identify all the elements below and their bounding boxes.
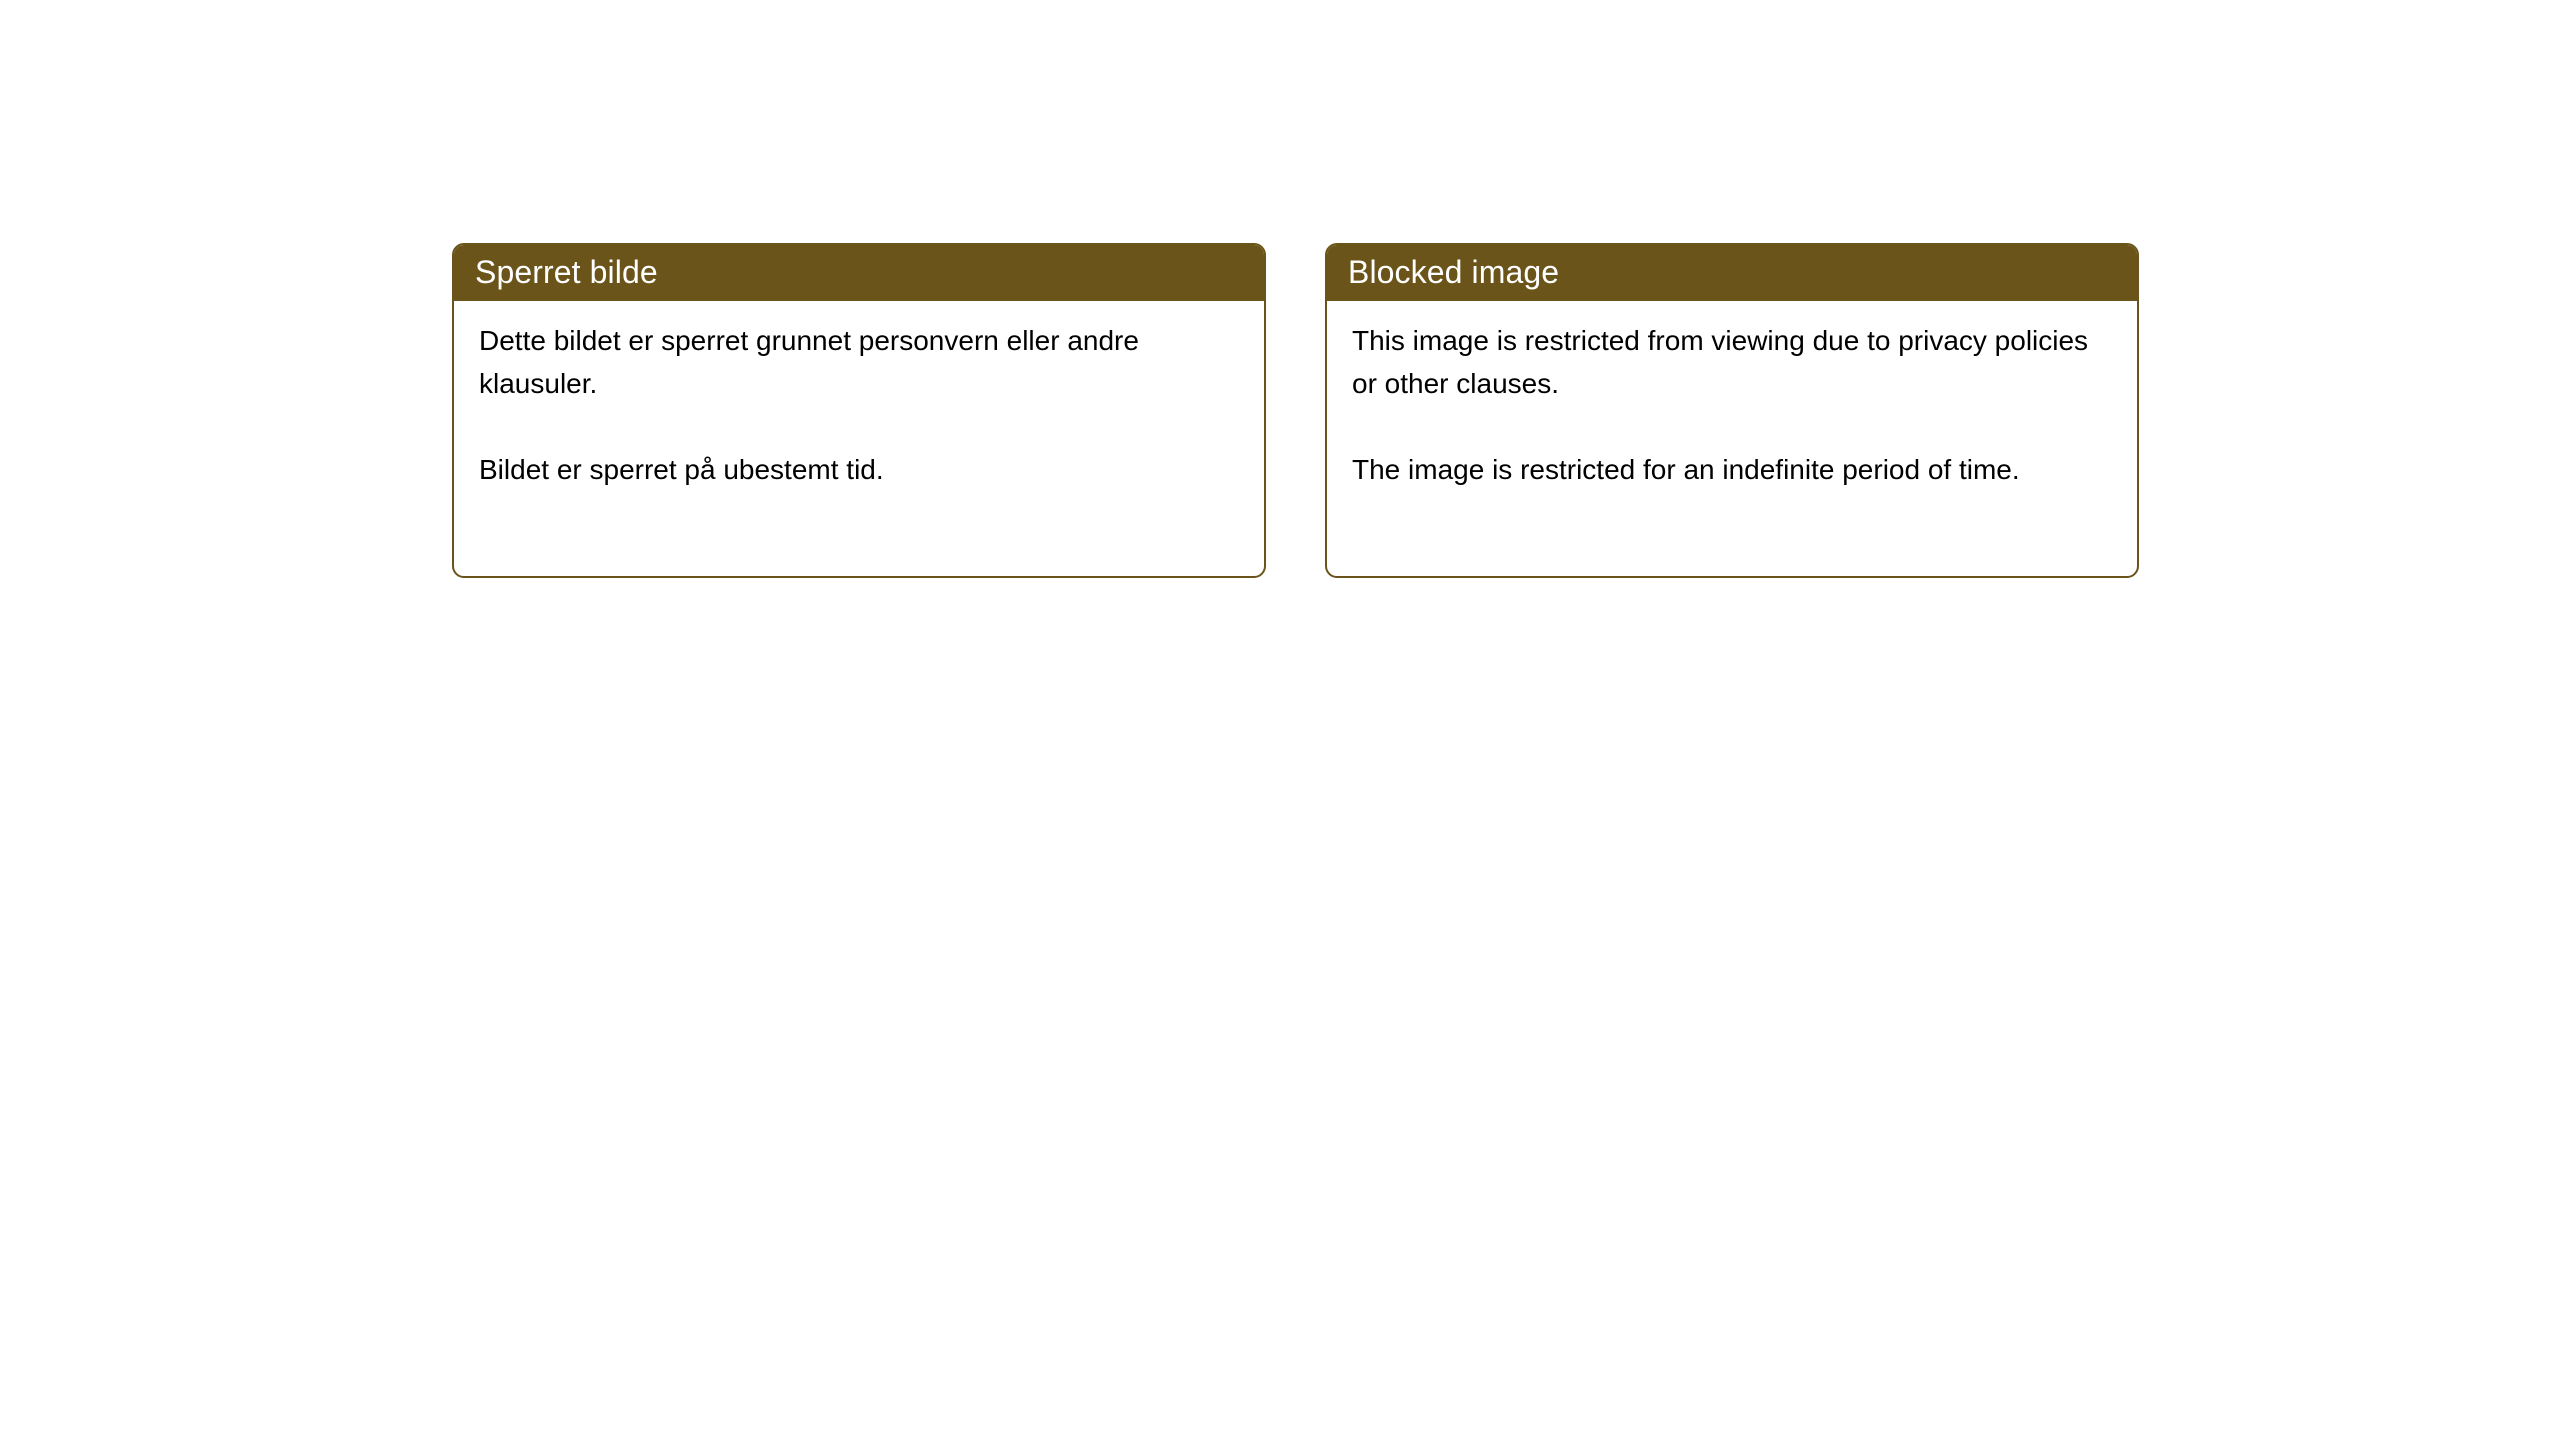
card-body-norwegian: Dette bildet er sperret grunnet personve…: [454, 301, 1264, 491]
paragraph-spacer: [1352, 405, 2107, 448]
blocked-image-notice-card-norwegian: Sperret bilde Dette bildet er sperret gr…: [452, 243, 1266, 578]
card-paragraph-primary-english: This image is restricted from viewing du…: [1352, 319, 2107, 405]
card-paragraph-secondary-norwegian: Bildet er sperret på ubestemt tid.: [479, 448, 1234, 491]
card-header-norwegian: Sperret bilde: [452, 243, 1266, 301]
card-header-english: Blocked image: [1325, 243, 2139, 301]
card-paragraph-primary-norwegian: Dette bildet er sperret grunnet personve…: [479, 319, 1234, 405]
card-paragraph-secondary-english: The image is restricted for an indefinit…: [1352, 448, 2107, 491]
paragraph-spacer: [479, 405, 1234, 448]
card-title-norwegian: Sperret bilde: [475, 254, 658, 290]
blocked-image-notice-card-english: Blocked image This image is restricted f…: [1325, 243, 2139, 578]
card-title-english: Blocked image: [1348, 254, 1559, 290]
page-root: Sperret bilde Dette bildet er sperret gr…: [0, 0, 2560, 1440]
card-body-english: This image is restricted from viewing du…: [1327, 301, 2137, 491]
